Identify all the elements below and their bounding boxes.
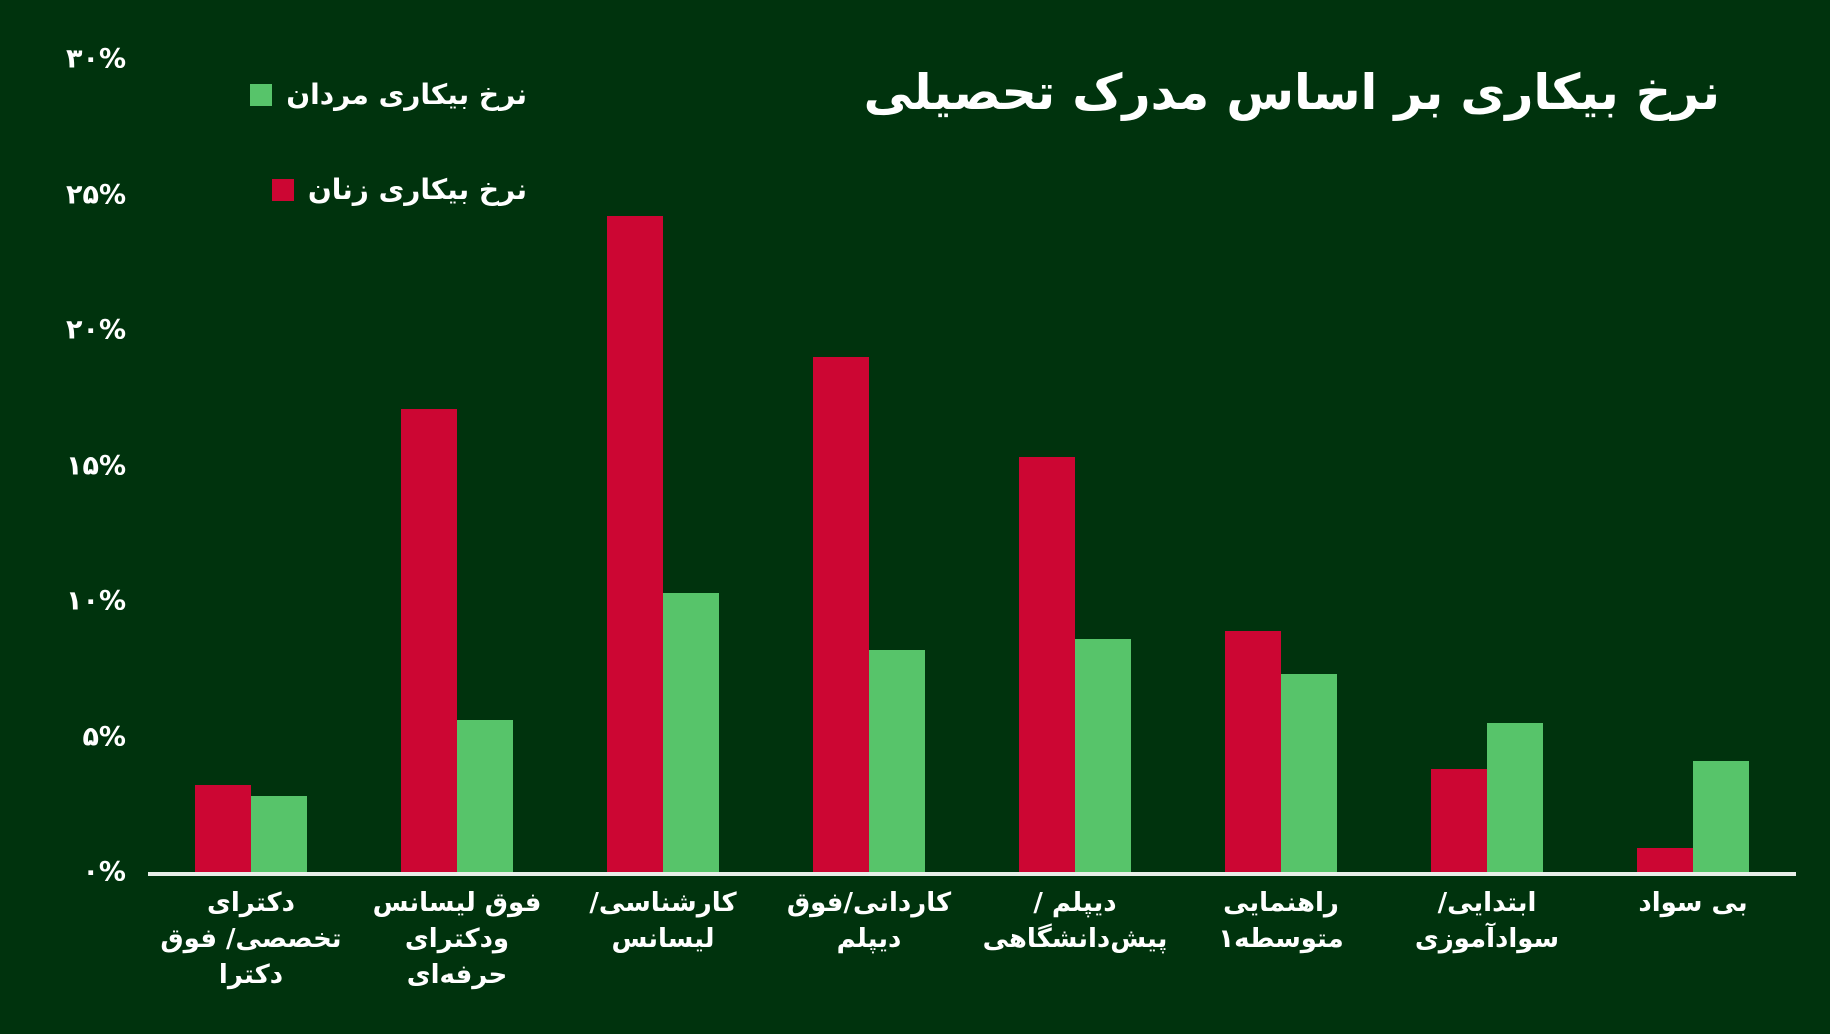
y-axis-tick: ۵% <box>82 721 126 752</box>
y-axis-tick: ۱۵% <box>66 450 126 481</box>
bar-men[interactable] <box>1693 761 1749 872</box>
bar-women[interactable] <box>1225 631 1281 872</box>
plot-area <box>148 59 1796 872</box>
bar-group <box>148 59 354 872</box>
bar-group <box>1178 59 1384 872</box>
chart-container: نرخ بیکاری بر اساس مدرک تحصیلی نرخ بیکار… <box>0 0 1830 1034</box>
bar-women[interactable] <box>401 409 457 872</box>
y-axis: ۳۰%۲۵%۲۰%۱۵%۱۰%۵%۰% <box>0 0 148 1034</box>
bar-women[interactable] <box>1431 769 1487 872</box>
bar-men[interactable] <box>1281 674 1337 872</box>
bar-group <box>766 59 972 872</box>
bar-men[interactable] <box>251 796 307 872</box>
bar-men[interactable] <box>1075 639 1131 872</box>
bar-group <box>1590 59 1796 872</box>
bar-men[interactable] <box>663 593 719 872</box>
y-axis-tick: ۳۰% <box>66 44 126 75</box>
bar-men[interactable] <box>869 650 925 872</box>
x-axis-label: فوق لیسانس ودکترای حرفه‌ای <box>354 886 560 1006</box>
x-axis-label: کارشناسی/لیسانس <box>560 886 766 1006</box>
x-axis-line <box>148 872 1796 876</box>
bar-men[interactable] <box>457 720 513 872</box>
y-axis-tick: ۰% <box>82 857 126 888</box>
y-axis-tick: ۱۰% <box>66 586 126 617</box>
bar-group <box>1384 59 1590 872</box>
bar-women[interactable] <box>607 216 663 872</box>
x-axis-label: کاردانی/فوق دیپلم <box>766 886 972 1006</box>
x-axis-labels: دکترای تخصصی/ فوق دکترافوق لیسانس ودکترا… <box>148 886 1796 1006</box>
bar-groups <box>148 59 1796 872</box>
x-axis-label: دکترای تخصصی/ فوق دکترا <box>148 886 354 1006</box>
bar-group <box>560 59 766 872</box>
x-axis-label: راهنمایی متوسطه۱ <box>1178 886 1384 1006</box>
y-axis-tick: ۲۰% <box>66 315 126 346</box>
bar-group <box>972 59 1178 872</box>
bar-group <box>354 59 560 872</box>
bar-women[interactable] <box>813 357 869 872</box>
x-axis-label: ابتدایی/ سوادآموزی <box>1384 886 1590 1006</box>
y-axis-tick: ۲۵% <box>66 179 126 210</box>
bar-women[interactable] <box>1019 457 1075 872</box>
bar-women[interactable] <box>1637 848 1693 872</box>
x-axis-label: دیپلم / پیش‌دانشگاهی <box>972 886 1178 1006</box>
bar-women[interactable] <box>195 785 251 872</box>
bar-men[interactable] <box>1487 723 1543 872</box>
x-axis-label: بی سواد <box>1590 886 1796 1006</box>
